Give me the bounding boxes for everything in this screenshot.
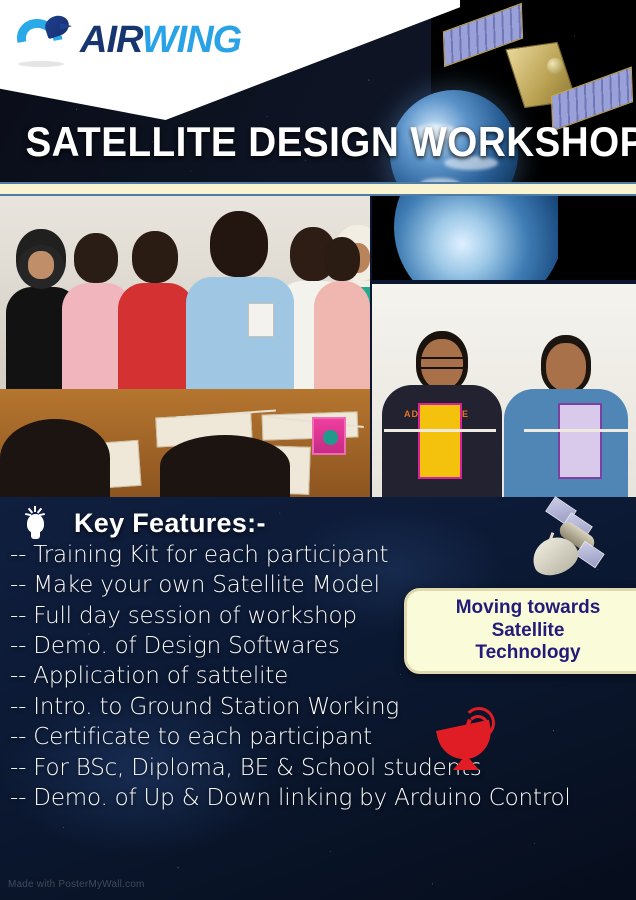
poster-header: AIRWING SATELLITE DESIGN WORKSHOP	[0, 0, 636, 182]
brand-logo[interactable]: AIRWING	[14, 14, 241, 66]
satellite-model-yellow	[418, 403, 462, 479]
cubesat-model	[312, 417, 346, 455]
poster-root: AIRWING SATELLITE DESIGN WORKSHOP	[0, 0, 636, 900]
watermark-text: Made with PosterMyWall.com	[8, 879, 145, 890]
lightbulb-icon	[18, 508, 52, 542]
satellite-dish-icon	[437, 703, 509, 771]
workshop-instructor	[186, 211, 294, 405]
instructor-id-badge	[248, 303, 274, 337]
space-dark-area	[558, 196, 636, 280]
model-body	[558, 403, 602, 479]
student-glasses	[418, 357, 466, 369]
model-body	[418, 403, 462, 479]
foreground-participant-head	[0, 419, 110, 497]
photo-gallery	[0, 196, 636, 497]
list-item: -- Demo. of Up & Down linking by Arduino…	[10, 783, 610, 813]
student-face	[546, 343, 586, 391]
participant-body	[118, 283, 194, 399]
list-item: -- Certificate to each participant	[10, 722, 610, 752]
satellite-antenna-dish	[547, 58, 563, 74]
earth-globe	[394, 196, 564, 280]
participant-face	[28, 251, 54, 279]
section-divider-band	[0, 182, 636, 196]
tagline-line-3: Technology	[446, 642, 611, 664]
key-features-list: -- Training Kit for each participant -- …	[10, 540, 610, 813]
participant-head	[74, 233, 118, 283]
workshop-participant	[118, 231, 194, 399]
dish-base	[453, 759, 479, 770]
page-title: SATELLITE DESIGN WORKSHOP	[25, 118, 610, 166]
bulb-glass	[27, 514, 44, 533]
satellite-model-purple	[558, 403, 602, 479]
model-antenna-rod	[384, 429, 496, 432]
bulb-ray	[34, 506, 36, 512]
workshop-participant	[314, 237, 370, 399]
tagline-line-2: Satellite	[446, 620, 611, 642]
model-antenna-rod	[524, 429, 636, 432]
instructor-head	[210, 211, 268, 277]
brand-wordmark: AIRWING	[80, 21, 241, 59]
list-item: -- For BSc, Diploma, BE & School student…	[10, 753, 610, 783]
students-with-satellite-models-photo	[372, 284, 636, 497]
participant-body	[314, 281, 370, 399]
brand-name-part1: AIR	[80, 19, 142, 61]
workshop-session-photo	[0, 196, 370, 497]
participant-head	[324, 237, 360, 281]
logo-shadow	[18, 61, 64, 67]
list-item: -- Intro. to Ground Station Working	[10, 692, 610, 722]
key-features-heading: Key Features:-	[74, 508, 266, 539]
participant-head	[132, 231, 178, 283]
bulb-ray	[25, 513, 31, 516]
tagline-line-1: Moving towards	[446, 597, 611, 619]
bulb-base	[31, 532, 40, 539]
earth-from-space-photo	[372, 196, 636, 280]
brand-name-part2: WING	[142, 19, 241, 61]
instructor-shirt	[186, 277, 294, 405]
bulb-ray	[39, 513, 45, 516]
tagline-callout-box: Moving towards Satellite Technology	[404, 588, 636, 674]
list-item: -- Training Kit for each participant	[10, 540, 610, 570]
bird-wing-swoosh-icon	[14, 14, 72, 66]
foreground-participant-head	[160, 435, 290, 497]
